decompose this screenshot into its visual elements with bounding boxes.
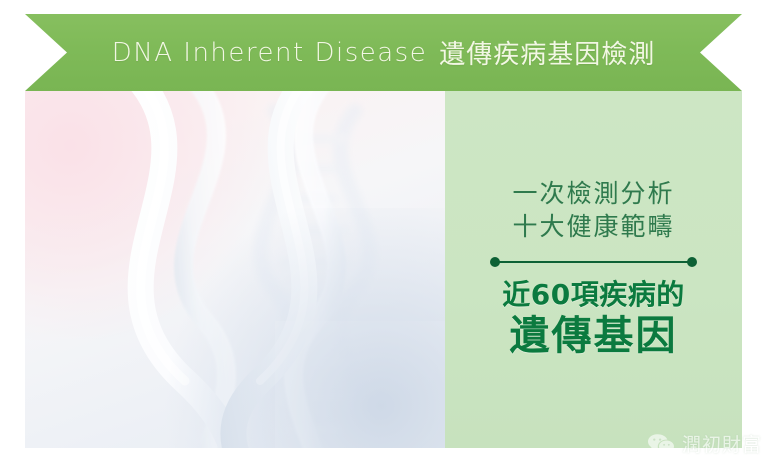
dna-helix-illustration	[25, 91, 445, 448]
divider-bar	[495, 261, 692, 263]
green-text-panel: 一次檢測分析 十大健康範疇 近60項疾病的 遺傳基因	[445, 91, 742, 448]
lead-line-2: 十大健康範疇	[512, 210, 674, 243]
dna-helix-icon	[25, 91, 445, 448]
banner-ribbon	[25, 14, 742, 91]
emphasis-line-2: 遺傳基因	[510, 314, 678, 359]
divider-dot-right	[687, 257, 697, 267]
panel-content: 一次檢測分析 十大健康範疇 近60項疾病的 遺傳基因	[445, 91, 742, 448]
content-area: 一次檢測分析 十大健康範疇 近60項疾病的 遺傳基因	[25, 91, 742, 448]
lead-line-1: 一次檢測分析	[512, 177, 674, 210]
divider-rule	[490, 256, 697, 268]
dna-photo	[25, 91, 445, 448]
poster-root: DNA Inherent Disease 遺傳疾病基因檢測	[0, 0, 784, 471]
emphasis-line-1: 近60項疾病的	[502, 277, 684, 312]
